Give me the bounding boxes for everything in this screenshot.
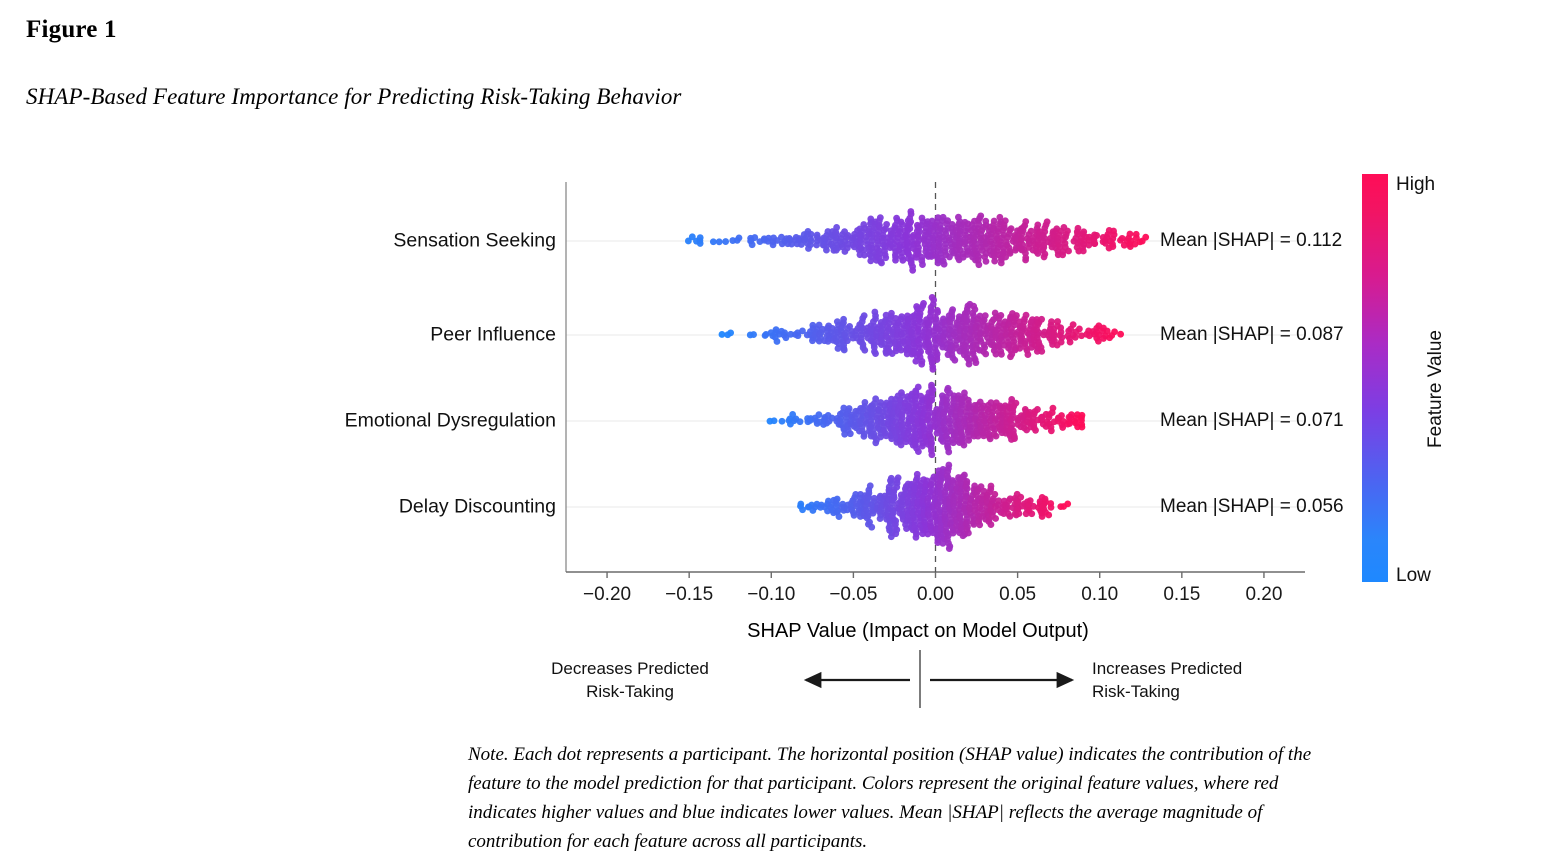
beeswarm-dot [861,433,868,440]
beeswarm-dot [991,491,998,498]
beeswarm-dot [861,312,868,319]
beeswarm-dot [872,439,879,446]
beeswarm-dot [892,530,899,537]
beeswarm-dot [1048,318,1055,325]
beeswarm-dot [898,219,905,226]
beeswarm-dot [919,261,926,268]
beeswarm-dot [1117,331,1124,338]
shap-beeswarm-chart: −0.20−0.15−0.10−0.050.000.050.100.150.20… [0,0,1554,861]
beeswarm-dot [991,258,998,265]
beeswarm-dot [977,212,984,219]
beeswarm-dot [1065,248,1072,255]
beeswarm-dot [941,261,948,268]
figure-note: Note. Each dot represents a participant.… [468,741,1316,857]
beeswarm-dot [750,331,757,338]
beeswarm-dot [1007,353,1014,360]
beeswarm-dot [970,303,977,310]
decreases-line-2: Risk-Taking [551,681,709,704]
x-tick-label-7: 0.15 [1163,584,1200,606]
beeswarm-dot [847,430,854,437]
mean-shap-label-1: Mean |SHAP| = 0.087 [1160,324,1344,346]
beeswarm-dot [909,267,916,274]
beeswarm-dot [898,389,905,396]
beeswarm-dot [860,221,867,228]
beeswarm-dot [1047,500,1054,507]
beeswarm-dot [1079,424,1086,431]
beeswarm-dot [961,390,968,397]
beeswarm-dot [797,418,804,425]
beeswarm-dot [1015,510,1022,517]
beeswarm-dot [1127,231,1134,238]
colorbar-title: Feature Value [1425,330,1447,448]
beeswarm-dot [933,356,940,363]
beeswarm-dot [710,238,717,245]
beeswarm-dot [934,307,941,314]
beeswarm-dot [823,247,830,254]
beeswarm-dot [736,234,743,241]
beeswarm-dot [1023,312,1030,319]
beeswarm-dot [1057,324,1064,331]
x-tick-label-3: −0.05 [829,584,877,606]
beeswarm-dot [1080,248,1087,255]
x-axis-title: SHAP Value (Impact on Model Output) [747,620,1089,643]
x-tick-label-0: −0.20 [583,584,631,606]
beeswarm-dot [998,351,1005,358]
beeswarm-dot [835,345,842,352]
beeswarm-dot [965,397,972,404]
beeswarm-dot [1008,225,1015,232]
beeswarm-dot [1091,240,1098,247]
beeswarm-dot [1038,316,1045,323]
beeswarm-dot [907,208,914,215]
beeswarm-dot [913,534,920,541]
beeswarm-dot [988,521,995,528]
beeswarm-dot [975,261,982,268]
beeswarm-dot [1093,232,1100,239]
beeswarm-dot [895,474,902,481]
beeswarm-dot [914,471,921,478]
beeswarm-dot [963,478,970,485]
beeswarm-dot [1011,435,1018,442]
beeswarm-dot [872,350,879,357]
beeswarm-dot [771,417,778,424]
beeswarm-dot [697,234,704,241]
beeswarm-dot [1012,400,1019,407]
beeswarm-dot [993,433,1000,440]
beeswarm-dot [867,482,874,489]
category-label-1: Peer Influence [430,324,556,347]
beeswarm-dot [807,242,814,249]
decreases-direction-label: Decreases Predicted Risk-Taking [551,658,709,704]
x-tick-label-1: −0.15 [665,584,713,606]
beeswarm-dot [945,449,952,456]
beeswarm-dot [1041,254,1048,261]
beeswarm-dot [1017,494,1024,501]
beeswarm-dot [1064,228,1071,235]
beeswarm-dot [1032,427,1039,434]
beeswarm-dot [816,411,823,418]
decreases-line-1: Decreases Predicted [551,658,709,681]
mean-shap-label-0: Mean |SHAP| = 0.112 [1160,230,1342,252]
beeswarm-dot [949,306,956,313]
beeswarm-dot [951,357,958,364]
beeswarm-dot [982,218,989,225]
beeswarm-dot [722,238,729,245]
category-label-0: Sensation Seeking [393,230,556,253]
beeswarm-dot [1058,412,1065,419]
beeswarm-dot [1034,406,1041,413]
beeswarm-dot [1022,218,1029,225]
category-label-2: Emotional Dysregulation [345,410,556,433]
beeswarm-dot [920,300,927,307]
beeswarm-dot [1054,318,1061,325]
beeswarm-dot [928,451,935,458]
beeswarm-dot [833,224,840,231]
beeswarm-dot [697,240,704,247]
increases-direction-label: Increases Predicted Risk-Taking [1092,658,1242,704]
beeswarm-dot [966,361,973,368]
beeswarm-dot [799,506,806,513]
beeswarm-dot [919,215,926,222]
beeswarm-dot [883,221,890,228]
beeswarm-dot [834,496,841,503]
mean-shap-label-3: Mean |SHAP| = 0.056 [1160,496,1344,518]
beeswarm-dot [1022,257,1029,264]
beeswarm-dot [1058,339,1065,346]
beeswarm-dot [917,393,924,400]
x-tick-label-5: 0.05 [999,584,1036,606]
beeswarm-dot [1110,228,1117,235]
feature-value-colorbar [1362,174,1388,582]
beeswarm-dot [965,530,972,537]
beeswarm-dot [945,462,952,469]
beeswarm-dot [779,418,786,425]
beeswarm-dot [871,309,878,316]
beeswarm-dot [983,258,990,265]
beeswarm-dot [1042,496,1049,503]
beeswarm-points [685,208,1149,552]
beeswarm-dot [836,513,843,520]
x-tick-label-6: 0.10 [1081,584,1118,606]
beeswarm-dot [976,521,983,528]
beeswarm-dot [1142,234,1149,241]
beeswarm-dot [841,347,848,354]
beeswarm-dot [1070,321,1077,328]
axis-tick-marks [607,572,1264,578]
mean-shap-label-2: Mean |SHAP| = 0.071 [1160,410,1344,432]
beeswarm-dot [892,257,899,264]
beeswarm-dot [997,312,1004,319]
beeswarm-dot [1048,427,1055,434]
beeswarm-dot [1072,334,1079,341]
x-tick-label-2: −0.10 [747,584,795,606]
beeswarm-dot [846,405,853,412]
increases-line-2: Risk-Taking [1092,681,1242,704]
beeswarm-dot [972,359,979,366]
beeswarm-dot [1109,243,1116,250]
x-tick-label-8: 0.20 [1245,584,1282,606]
beeswarm-dot [861,347,868,354]
beeswarm-dot [1016,345,1023,352]
beeswarm-dot [991,218,998,225]
beeswarm-dot [1045,512,1052,519]
beeswarm-dot [915,448,922,455]
beeswarm-dot [1059,252,1066,259]
beeswarm-dot [998,260,1005,267]
beeswarm-dot [1044,218,1051,225]
beeswarm-dot [862,399,869,406]
beeswarm-dot [1111,328,1118,335]
beeswarm-dot [868,524,875,531]
beeswarm-dot [1133,231,1140,238]
beeswarm-dot [1038,348,1045,355]
beeswarm-dot [882,254,889,261]
beeswarm-dot [716,238,723,245]
beeswarm-dot [918,361,925,368]
beeswarm-dot [727,329,734,336]
beeswarm-dot [833,247,840,254]
beeswarm-dot [878,260,885,267]
beeswarm-dot [1050,405,1057,412]
beeswarm-dot [797,501,804,508]
beeswarm-dot [1028,510,1035,517]
beeswarm-dot [814,232,821,239]
beeswarm-dot [915,384,922,391]
beeswarm-dot [929,294,936,301]
beeswarm-dot [1076,326,1083,333]
colorbar-low-label: Low [1396,565,1431,587]
beeswarm-dot [1064,500,1071,507]
beeswarm-dot [945,385,952,392]
beeswarm-dot [955,214,962,221]
beeswarm-dot [988,483,995,490]
beeswarm-dot [928,382,935,389]
x-tick-label-4: 0.00 [917,584,954,606]
beeswarm-dot [992,515,999,522]
beeswarm-dot [877,214,884,221]
colorbar-high-label: High [1396,174,1435,196]
beeswarm-dot [1013,312,1020,319]
beeswarm-dot [1075,225,1082,232]
beeswarm-dot [1034,221,1041,228]
beeswarm-dot [840,316,847,323]
beeswarm-dot [1079,412,1086,419]
beeswarm-dot [965,437,972,444]
beeswarm-dot [774,338,781,345]
increases-line-1: Increases Predicted [1092,658,1242,681]
beeswarm-dot [1067,339,1074,346]
beeswarm-dot [982,351,989,358]
beeswarm-dot [1025,351,1032,358]
beeswarm-dot [1002,217,1009,224]
direction-arrows [806,650,1072,708]
beeswarm-dot [946,545,953,552]
beeswarm-dot [961,472,968,479]
beeswarm-dot [867,257,874,264]
beeswarm-dot [929,366,936,373]
category-label-3: Delay Discounting [399,496,556,519]
beeswarm-dot [808,231,815,238]
beeswarm-dot [982,312,989,319]
